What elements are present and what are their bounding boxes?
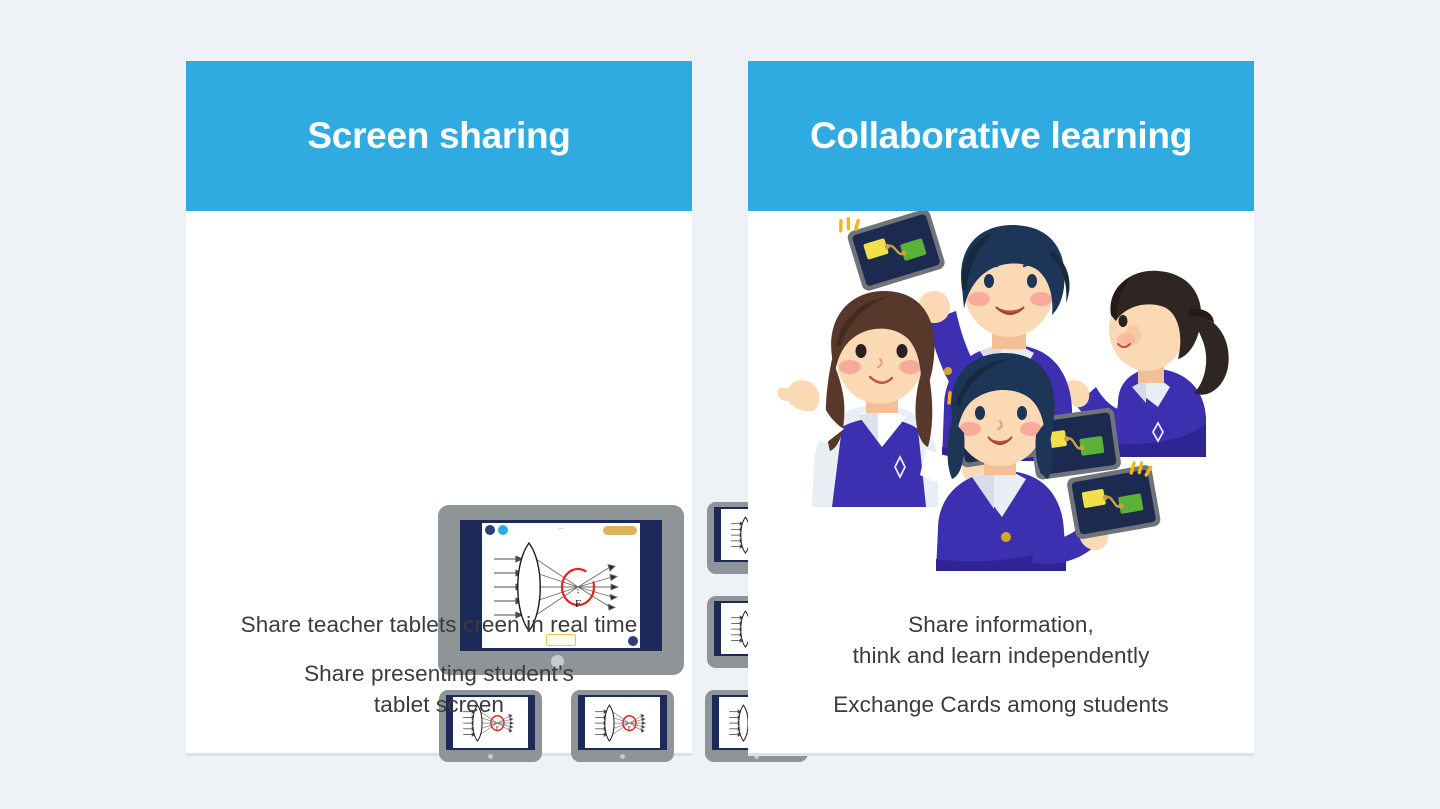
card-body-collaborative-learning: Share information, think and learn indep… — [748, 211, 1254, 753]
svg-text:F: F — [496, 726, 499, 732]
tablet-home-button — [754, 754, 760, 760]
card-header-screen-sharing: Screen sharing — [186, 61, 692, 211]
tablet-home-button — [620, 754, 626, 760]
card-body-screen-sharing: — — [186, 211, 692, 753]
card-captions-screen-sharing: Share teacher tablets creen in real time… — [186, 609, 692, 720]
caption-line: Share presenting student’s tablet screen — [186, 658, 692, 720]
caption-line: Share information, think and learn indep… — [748, 609, 1254, 671]
card-captions-collaborative-learning: Share information, think and learn indep… — [748, 609, 1254, 720]
caption-line: Share teacher tablets creen in real time — [186, 609, 692, 640]
card-title: Screen sharing — [307, 115, 570, 157]
illustration-screen-sharing: — — [186, 211, 692, 611]
students-group — [748, 211, 1254, 611]
student-tablet — [846, 211, 946, 292]
card-header-collaborative-learning: Collaborative learning — [748, 61, 1254, 211]
card-screen-sharing: Screen sharing — — [186, 61, 692, 753]
card-collaborative-learning: Collaborative learning — [748, 61, 1254, 753]
tablet-home-button — [488, 754, 494, 760]
caption-line: Exchange Cards among students — [748, 689, 1254, 720]
card-title: Collaborative learning — [810, 115, 1192, 157]
slide-board: Screen sharing — — [0, 0, 1440, 809]
illustration-collaborative-learning — [748, 211, 1254, 611]
students-illustration — [766, 211, 1236, 571]
svg-text:F: F — [628, 726, 631, 732]
sparkle-icon — [839, 217, 860, 232]
